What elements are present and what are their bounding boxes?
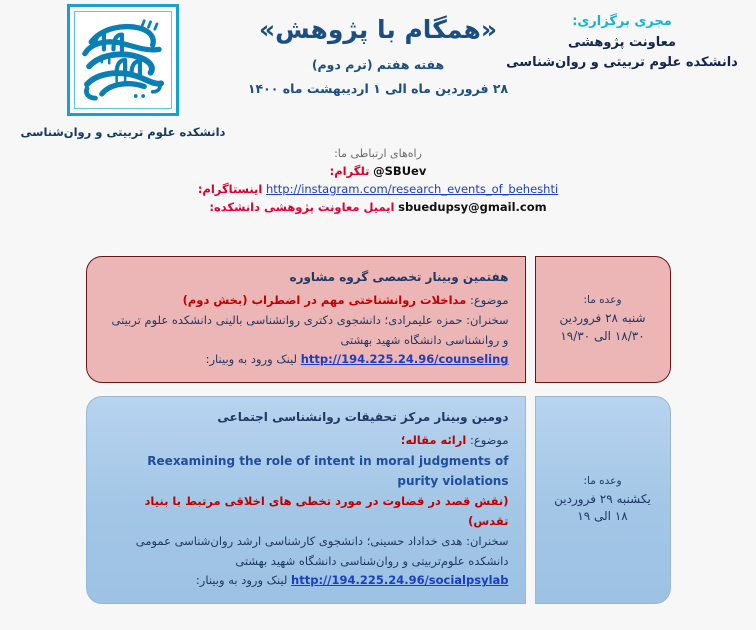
speaker-text: هدی خداداد حسینی؛ دانشجوی کارشناسی ارشد …	[136, 534, 509, 568]
webinar-speaker-line: سخنران: هدی خداداد حسینی؛ دانشجوی کارشنا…	[103, 532, 509, 572]
speaker-label: سخنران:	[466, 313, 508, 327]
webinar-topic-line: موضوع: مداخلات روانشناختی مهم در اضطراب …	[103, 291, 509, 311]
webinar-topic-line: موضوع: ارائه مقاله؛ Reexamining the role…	[103, 431, 509, 532]
webinar-speaker-line: سخنران: حمزه علیمرادی؛ دانشجوی دکتری روا…	[103, 311, 509, 351]
contact-email-row: sbuedupsy@gmail.com ایمیل معاونت پژوهشی …	[0, 199, 756, 217]
topic-persian-gloss: (نقش قصد در قضاوت در مورد تخطی های اخلاق…	[145, 494, 509, 528]
contact-heading: راه‌های ارتباطی ما:	[0, 147, 756, 160]
link-label: لینک ورود به وبینار:	[196, 573, 287, 587]
organizer-line-1: معاونت پژوهشی	[502, 33, 742, 53]
webinar-link-line: http://194.225.24.96/counseling لینک ورو…	[103, 350, 509, 370]
date-range: ۲۸ فروردین ماه الی ۱ اردیبهشت ماه ۱۴۰۰	[0, 81, 756, 96]
schedule-day: یکشنبه ۲۹ فروردین	[554, 491, 651, 508]
topic-text: مداخلات روانشناختی مهم در اضطراب (بخش دو…	[183, 293, 467, 307]
organizer-label: مجری برگزاری:	[502, 14, 742, 29]
webinar-join-link[interactable]: http://194.225.24.96/counseling	[301, 350, 509, 370]
webinar-schedule-card: وعده ما: یکشنبه ۲۹ فروردین ۱۸ الی ۱۹	[535, 396, 671, 604]
webinar-list: هفتمین وبینار تخصصی گروه مشاوره موضوع: م…	[0, 256, 756, 617]
schedule-day: شنبه ۲۸ فروردین	[559, 310, 645, 327]
schedule-time: ۱۸/۳۰ الی ۱۹/۳۰	[560, 328, 644, 345]
email-address: sbuedupsy@gmail.com	[398, 199, 546, 217]
schedule-time: ۱۸ الی ۱۹	[577, 508, 627, 525]
topic-label: موضوع:	[470, 293, 509, 307]
webinar-info-card: هفتمین وبینار تخصصی گروه مشاوره موضوع: م…	[86, 256, 526, 383]
webinar-join-link[interactable]: http://194.225.24.96/socialpsylab	[291, 571, 508, 591]
webinar-title: هفتمین وبینار تخصصی گروه مشاوره	[103, 270, 509, 284]
contact-instagram-row: http://instagram.com/research_events_of_…	[0, 181, 756, 199]
webinar-link-line: http://194.225.24.96/socialpsylab لینک و…	[103, 571, 509, 591]
webinar-info-card: دومین وبینار مرکز تحقیقات روانشناسی اجتم…	[86, 396, 526, 604]
contact-block: راه‌های ارتباطی ما: @SBUev تلگرام: http:…	[0, 147, 756, 216]
webinar-title: دومین وبینار مرکز تحقیقات روانشناسی اجتم…	[103, 410, 509, 424]
instagram-label: اینستاگرام:	[198, 182, 262, 196]
email-label: ایمیل معاونت پژوهشی دانشکده:	[209, 200, 394, 214]
telegram-handle: @SBUev	[373, 163, 426, 181]
schedule-label: وعده ما:	[583, 475, 621, 487]
contact-telegram-row: @SBUev تلگرام:	[0, 163, 756, 181]
speaker-label: سخنران:	[466, 534, 508, 548]
webinar-row: دومین وبینار مرکز تحقیقات روانشناسی اجتم…	[0, 396, 756, 604]
topic-text: ارائه مقاله؛	[401, 433, 466, 447]
topic-english-title: Reexamining the role of intent in moral …	[103, 451, 509, 492]
logo-caption: دانشکده علوم تربیتی و روان‌شناسی	[8, 125, 238, 139]
schedule-label: وعده ما:	[583, 294, 621, 306]
link-label: لینک ورود به وبینار:	[206, 352, 297, 366]
telegram-label: تلگرام:	[330, 164, 370, 178]
speaker-text: حمزه علیمرادی؛ دانشجوی دکتری روانشناسی ب…	[112, 313, 509, 347]
organizer-line-2: دانشکده علوم تربیتی و روان‌شناسی	[502, 53, 742, 73]
webinar-row: هفتمین وبینار تخصصی گروه مشاوره موضوع: م…	[0, 256, 756, 383]
webinar-schedule-card: وعده ما: شنبه ۲۸ فروردین ۱۸/۳۰ الی ۱۹/۳۰	[535, 256, 671, 383]
topic-label: موضوع:	[470, 433, 509, 447]
instagram-link[interactable]: http://instagram.com/research_events_of_…	[266, 181, 558, 199]
organizer-block: مجری برگزاری: معاونت پژوهشی دانشکده علوم…	[502, 14, 742, 72]
